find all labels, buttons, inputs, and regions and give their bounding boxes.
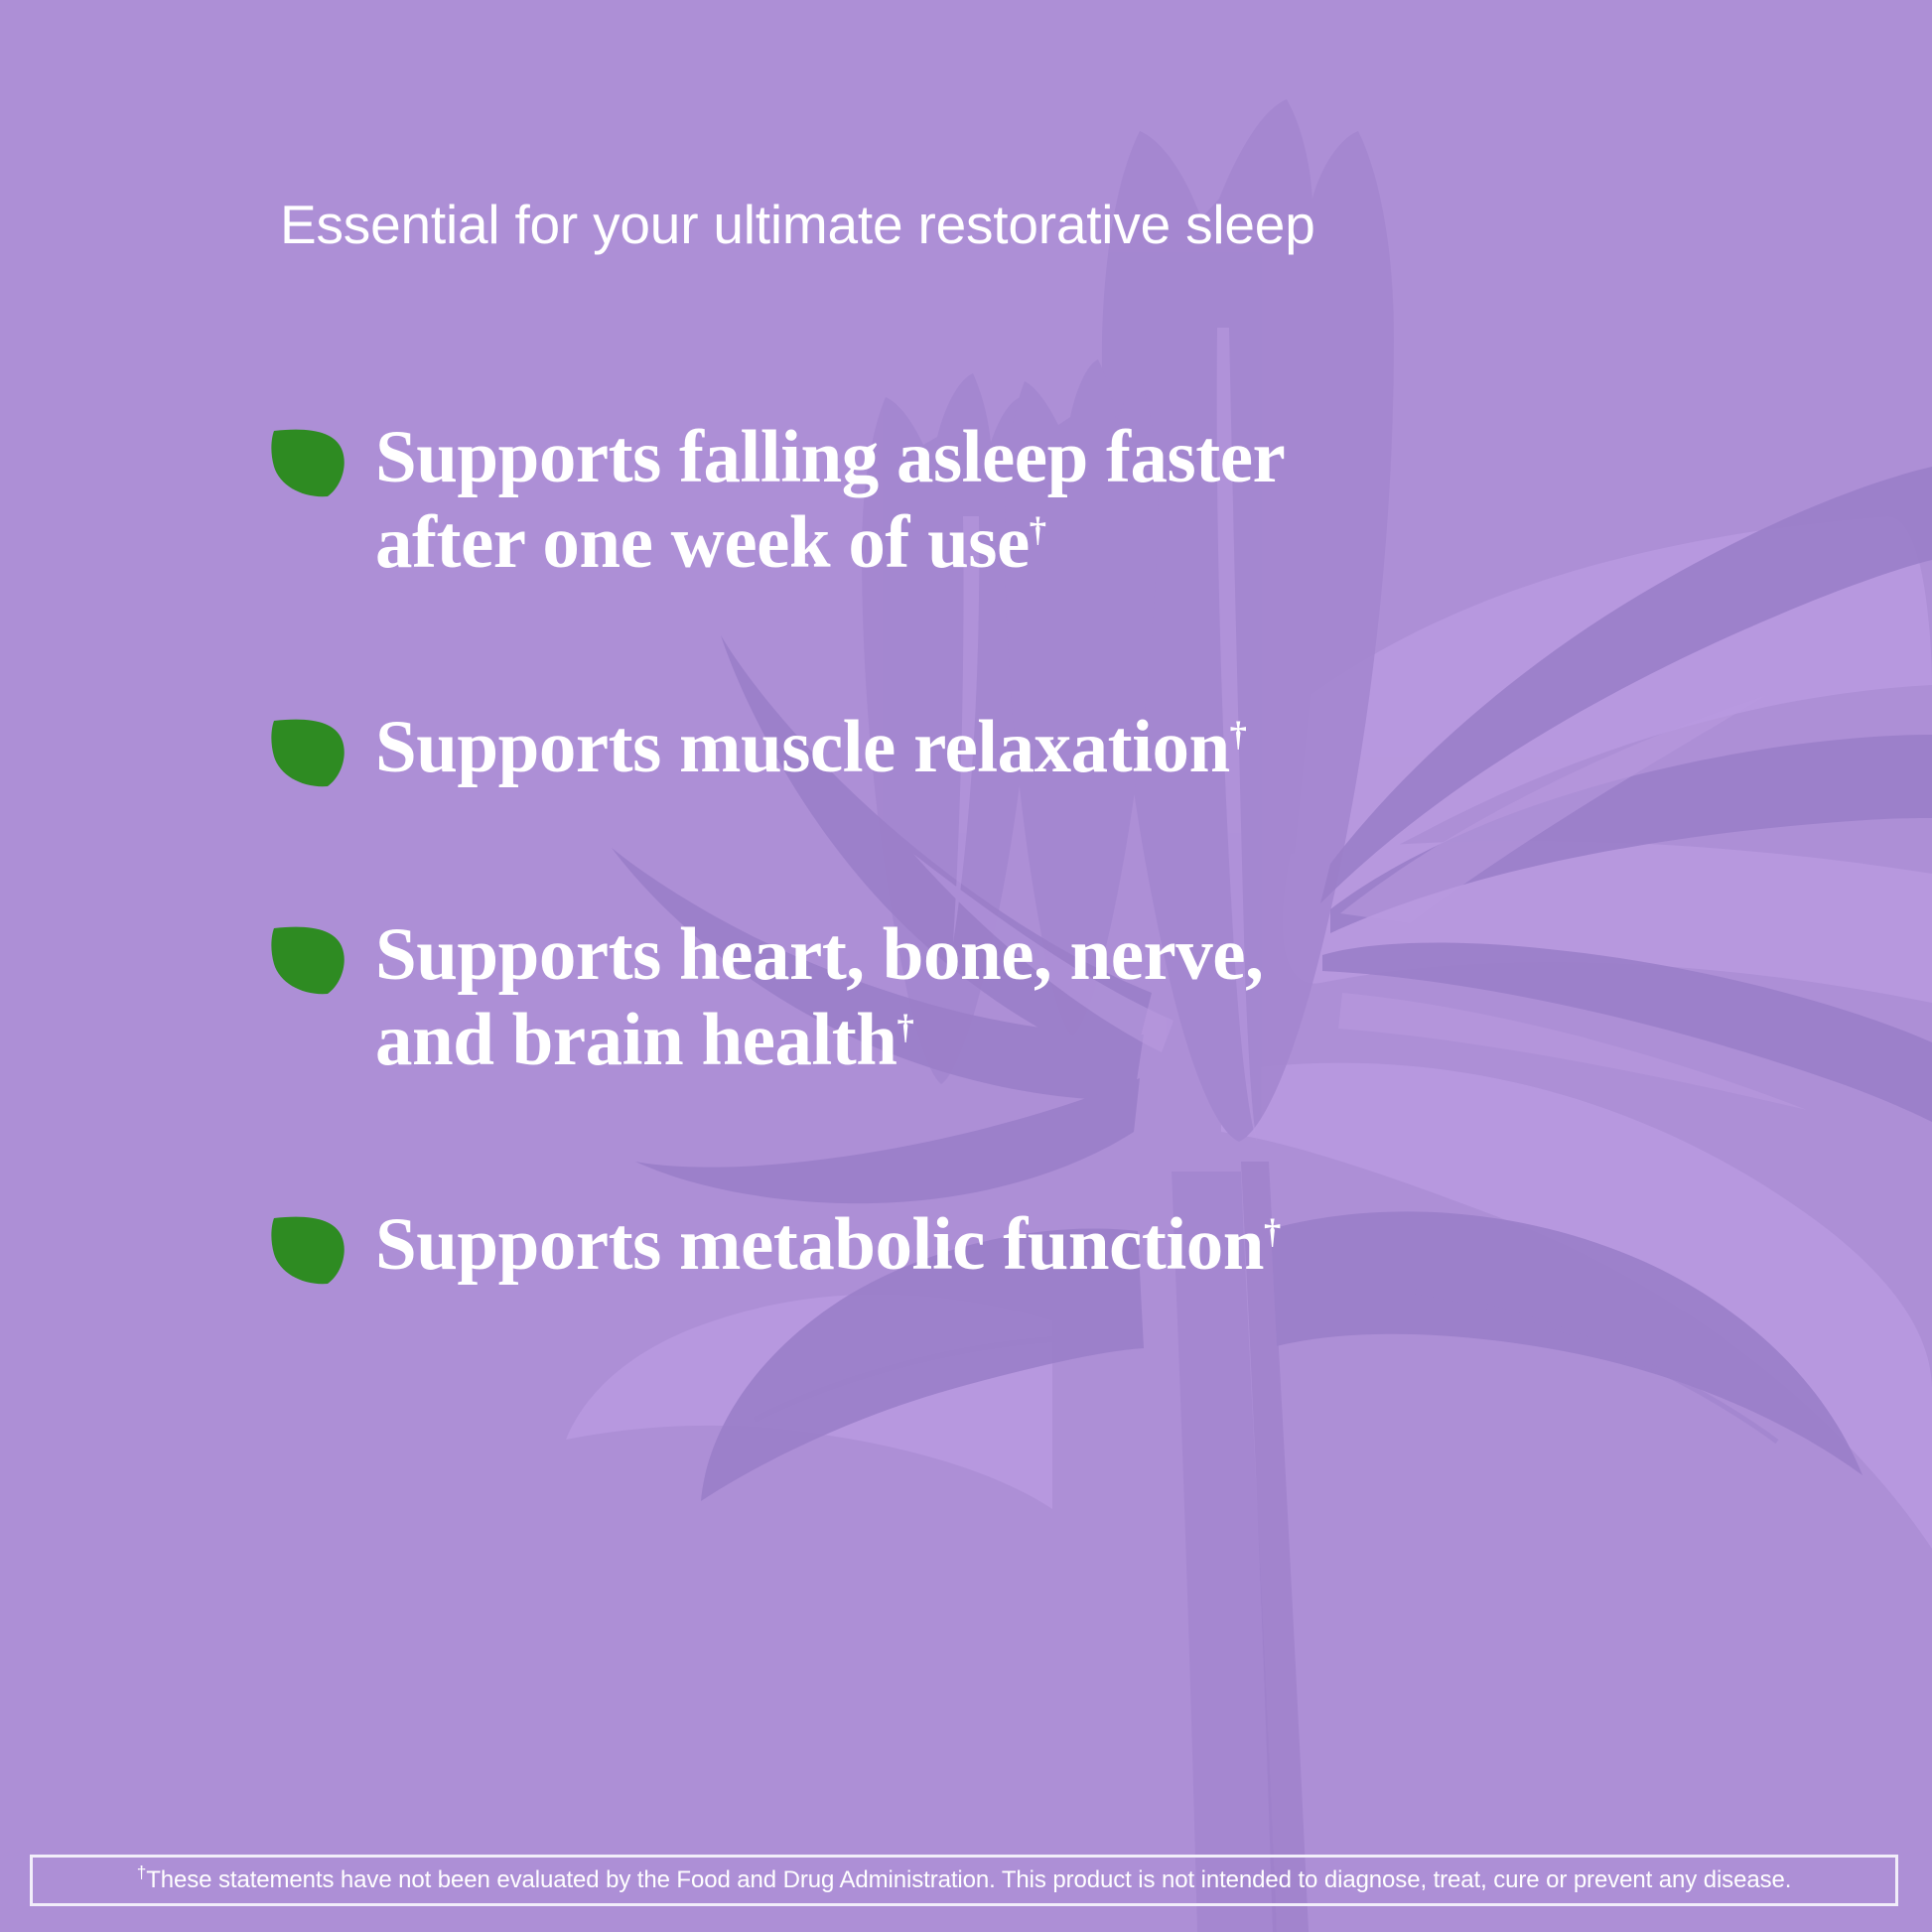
footnote-marker: † xyxy=(897,1009,914,1046)
benefit-text: Supports metabolic function† xyxy=(375,1202,1680,1288)
benefit-line-2: and brain health xyxy=(375,999,897,1081)
benefit-text: Supports heart, bone, nerve, and brain h… xyxy=(375,912,1680,1082)
benefit-text: Supports muscle relaxation† xyxy=(375,705,1680,790)
footnote-marker: † xyxy=(137,1863,147,1882)
footnote-marker: † xyxy=(1264,1213,1281,1251)
disclaimer-body: These statements have not been evaluated… xyxy=(146,1866,1791,1893)
benefits-list: Supports falling asleep faster after one… xyxy=(270,415,1680,1290)
leaf-icon xyxy=(270,425,347,502)
disclaimer-text: †These statements have not been evaluate… xyxy=(137,1868,1792,1892)
benefit-text: Supports falling asleep faster after one… xyxy=(375,415,1680,585)
footnote-marker: † xyxy=(1230,716,1247,754)
promo-canvas: Essential for your ultimate restorative … xyxy=(0,0,1932,1932)
benefit-item-metabolic-function: Supports metabolic function† xyxy=(270,1202,1680,1290)
benefit-item-heart-bone-nerve-brain-health: Supports heart, bone, nerve, and brain h… xyxy=(270,912,1680,1082)
leaf-icon xyxy=(270,1212,347,1290)
benefit-line-1: Supports falling asleep faster xyxy=(375,416,1285,498)
benefit-line-1: Supports heart, bone, nerve, xyxy=(375,913,1263,996)
benefit-line-1: Supports metabolic function xyxy=(375,1203,1264,1286)
leaf-icon xyxy=(270,922,347,1000)
page-title: Essential for your ultimate restorative … xyxy=(280,194,1769,256)
benefit-line-2: after one week of use xyxy=(375,501,1030,584)
benefit-item-muscle-relaxation: Supports muscle relaxation† xyxy=(270,705,1680,792)
benefit-item-falling-asleep-faster: Supports falling asleep faster after one… xyxy=(270,415,1680,585)
benefit-line-1: Supports muscle relaxation xyxy=(375,706,1230,788)
footnote-marker: † xyxy=(1030,511,1046,549)
leaf-icon xyxy=(270,715,347,792)
disclaimer-box: †These statements have not been evaluate… xyxy=(30,1855,1898,1906)
